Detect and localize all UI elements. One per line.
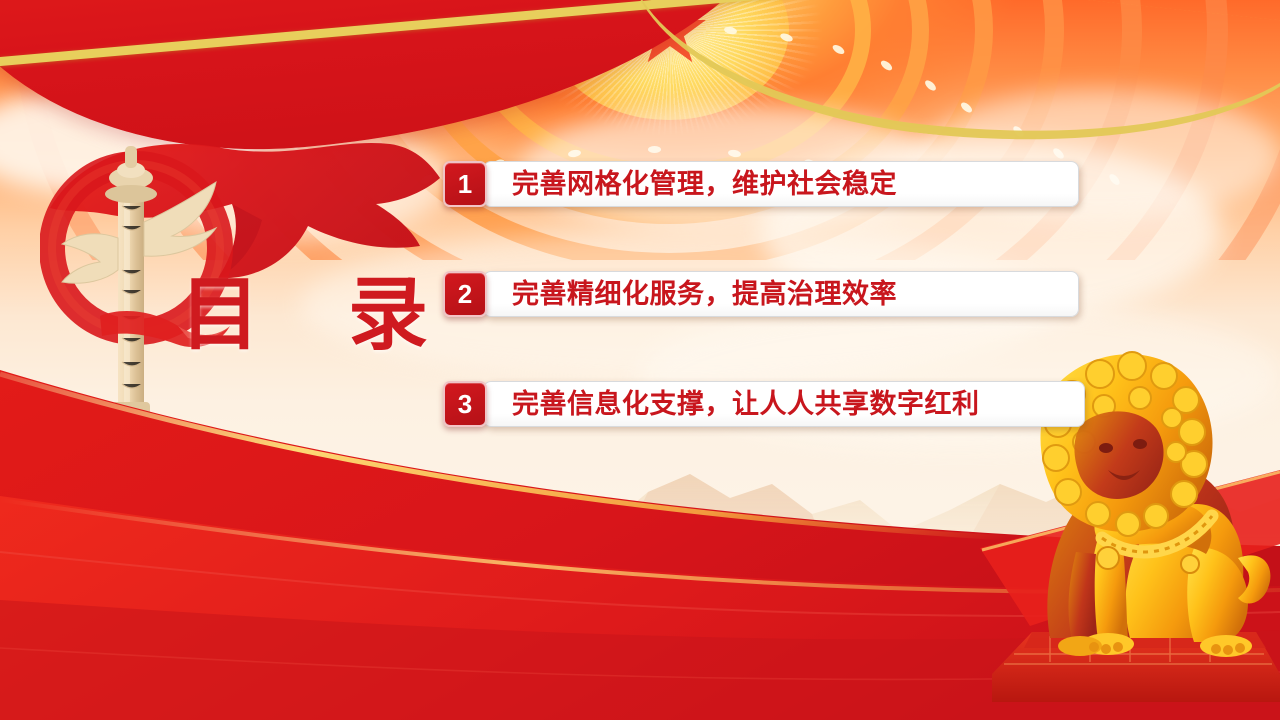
agenda-list: 1 完善网格化管理，维护社会稳定 2 完善精细化服务，提高治理效率 3 完善信息… <box>443 160 1103 428</box>
agenda-text-3: 完善信息化支撑，让人人共享数字红利 <box>512 391 980 418</box>
agenda-item-1[interactable]: 1 完善网格化管理，维护社会稳定 <box>443 160 1103 208</box>
agenda-bar-2[interactable]: 完善精细化服务，提高治理效率 <box>483 271 1079 317</box>
agenda-item-2[interactable]: 2 完善精细化服务，提高治理效率 <box>443 270 1103 318</box>
agenda-text-2: 完善精细化服务，提高治理效率 <box>512 281 897 308</box>
agenda-item-3[interactable]: 3 完善信息化支撑，让人人共享数字红利 <box>443 380 1103 428</box>
slide-canvas: 目 录 1 完善网格化管理，维护社会稳定 2 完善精细化服务，提高治理效率 3 … <box>0 0 1280 720</box>
agenda-bar-3[interactable]: 完善信息化支撑，让人人共享数字红利 <box>483 381 1085 427</box>
page-title: 目 录 <box>180 276 440 356</box>
agenda-number-badge-2: 2 <box>443 271 487 317</box>
agenda-bar-1[interactable]: 完善网格化管理，维护社会稳定 <box>483 161 1079 207</box>
agenda-text-1: 完善网格化管理，维护社会稳定 <box>512 171 897 198</box>
agenda-number-badge-1: 1 <box>443 161 487 207</box>
agenda-number-badge-3: 3 <box>443 381 487 427</box>
